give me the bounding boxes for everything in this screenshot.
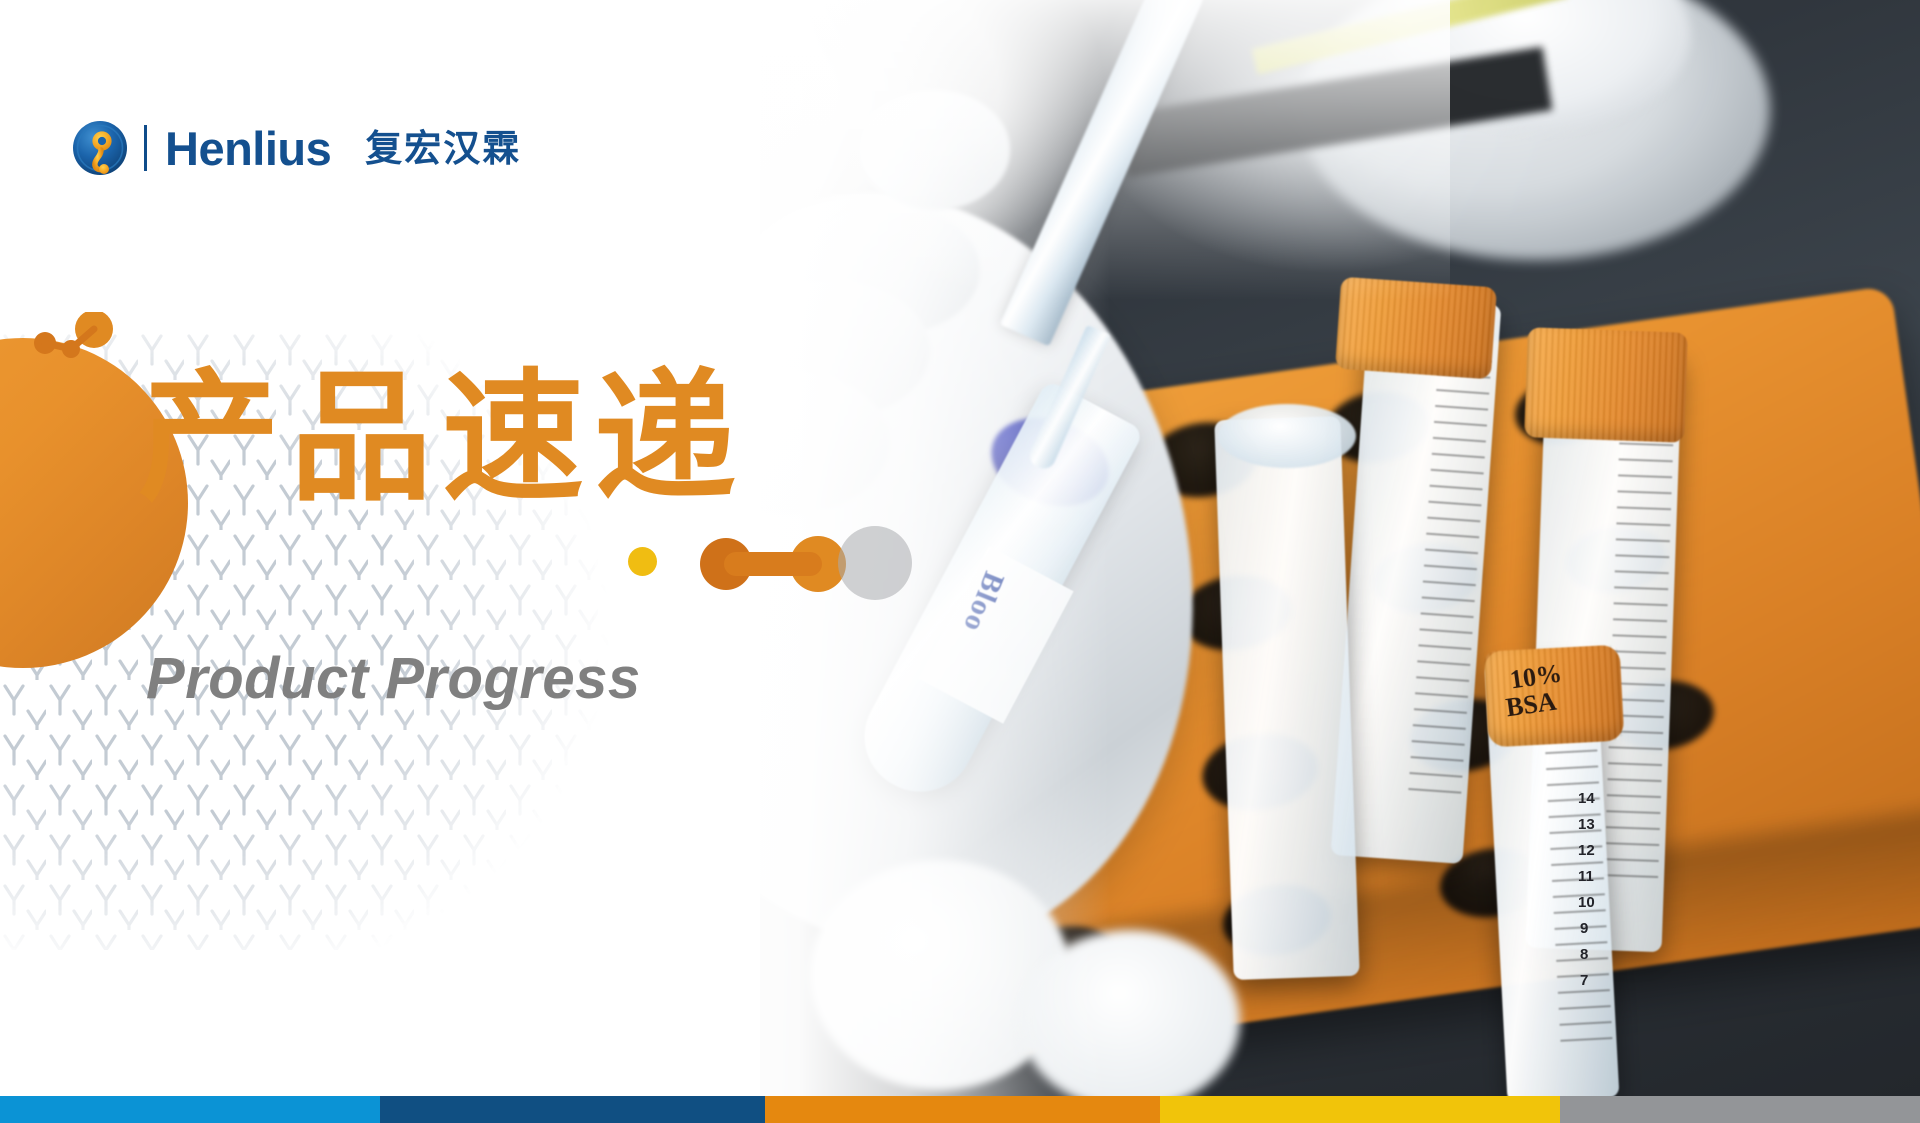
graduation-7: 7 (1580, 972, 1588, 989)
henlius-emblem-icon (72, 120, 128, 176)
slide-root: 10% BSA 14 13 12 11 10 9 8 7 Bloo (0, 0, 1920, 1123)
clear-sample-tube (1214, 416, 1359, 980)
segment-gray (1560, 1096, 1920, 1123)
page-title: 产品速递 (138, 368, 746, 510)
bottom-color-bar (0, 1096, 1920, 1123)
accent-circle-gray (838, 526, 912, 600)
logo-chinese-name: 复宏汉霖 (365, 130, 521, 167)
segment-light-blue (0, 1096, 380, 1123)
page-subtitle: Product Progress (146, 645, 641, 712)
clear-tube-rim (1218, 404, 1356, 468)
graduation-10: 10 (1578, 894, 1595, 911)
graduation-13: 13 (1578, 816, 1595, 833)
sample-tube-right-cap (1524, 327, 1688, 443)
accent-dot-yellow (628, 547, 657, 576)
segment-orange (765, 1096, 1160, 1123)
molecule-dumbbell-icon (700, 533, 846, 600)
henlius-logo[interactable]: Henlius 复宏汉霖 (72, 120, 521, 176)
segment-yellow (1160, 1096, 1560, 1123)
molecule-dumbbell-icon-small (30, 312, 126, 377)
logo-divider (144, 125, 147, 171)
graduation-9: 9 (1580, 920, 1588, 937)
photo-top-fade (690, 0, 1450, 300)
graduation-12: 12 (1578, 842, 1595, 859)
graduation-14: 14 (1578, 790, 1595, 807)
graduation-11: 11 (1578, 868, 1594, 885)
logo-wordmark: Henlius (165, 125, 331, 172)
graduation-8: 8 (1580, 946, 1588, 963)
segment-dark-blue (380, 1096, 765, 1123)
